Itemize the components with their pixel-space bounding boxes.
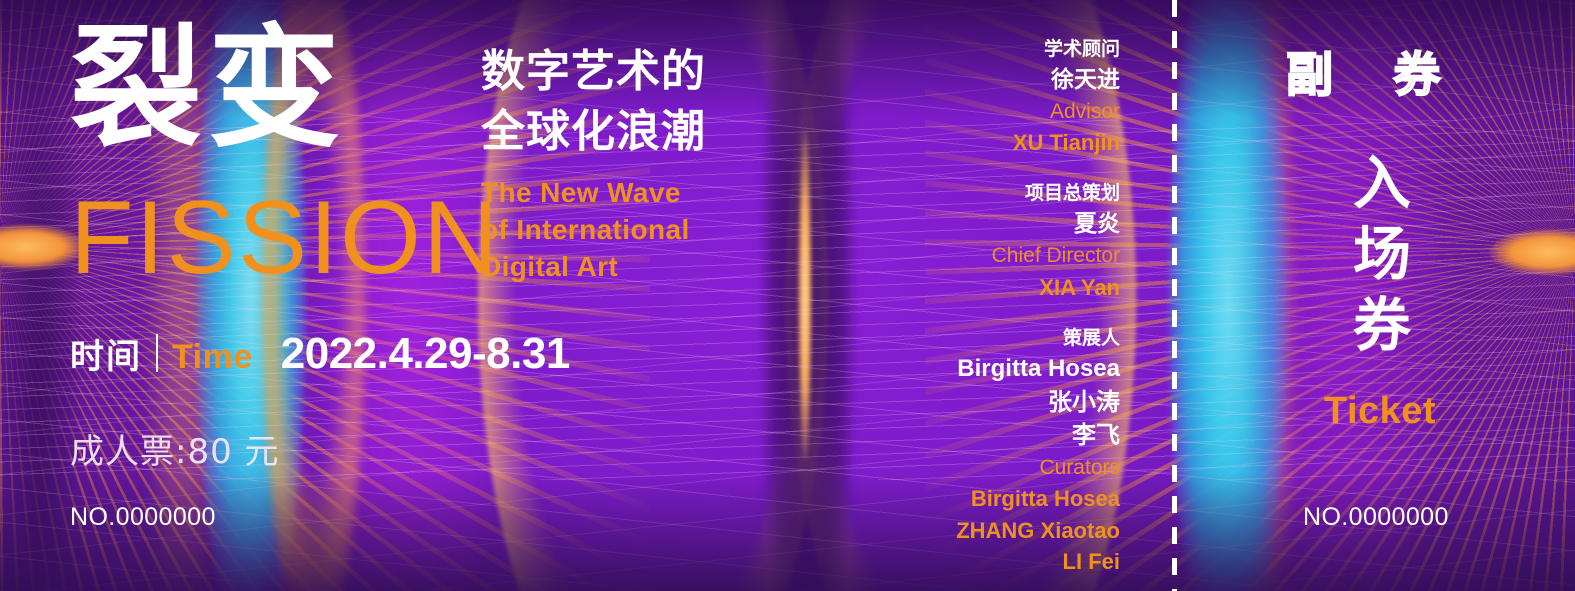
perforation-line <box>1172 0 1177 591</box>
serial-number-right: NO.0000000 <box>1303 503 1449 532</box>
serial-number-left: NO.0000000 <box>70 503 216 532</box>
subtitle-en-line-3: Digital Art <box>481 249 690 286</box>
stub-ticket-label: Ticket <box>1300 390 1460 433</box>
curators-label-en: Curators <box>956 452 1120 484</box>
advisor-label-en: Advisor <box>956 96 1120 128</box>
curator-name-en-1: Birgitta Hosea <box>956 483 1120 514</box>
time-value: 2022.4.29-8.31 <box>281 329 570 379</box>
subtitle-cn-line-2: 全球化浪潮 <box>481 102 706 162</box>
curator-name-en-2: ZHANG Xiaotao <box>956 515 1120 546</box>
chief-director-label-cn: 项目总策划 <box>956 180 1120 208</box>
stub-vertical-cn-char-2: 场 <box>1337 219 1427 290</box>
chief-director-label-en: Chief Director <box>956 240 1120 272</box>
ticket-root: 裂变 FISSION 数字艺术的 全球化浪潮 The New Wave of I… <box>0 0 1575 591</box>
credit-block-advisor: 学术顾问 徐天进 Advisor XU Tianjin <box>956 36 1120 158</box>
advisor-name-en: XU Tianjin <box>956 127 1120 158</box>
credit-block-chief-director: 项目总策划 夏炎 Chief Director XIA Yan <box>956 180 1120 302</box>
ticket-content: 裂变 FISSION 数字艺术的 全球化浪潮 The New Wave of I… <box>0 0 1575 591</box>
curator-name-cn-3: 李飞 <box>956 419 1120 452</box>
subtitle-en-line-2: of International <box>481 212 690 249</box>
subtitle-cn-line-1: 数字艺术的 <box>481 42 706 102</box>
time-divider <box>156 334 158 372</box>
stub-vertical-cn: 入 场 券 <box>1337 148 1427 360</box>
time-label-cn: 时间 <box>70 329 142 378</box>
advisor-name-cn: 徐天进 <box>956 64 1120 96</box>
subtitle-cn: 数字艺术的 全球化浪潮 <box>481 42 706 162</box>
curators-label-cn: 策展人 <box>956 325 1120 353</box>
stub-vertical-cn-char-3: 券 <box>1337 290 1427 361</box>
subtitle-en: The New Wave of International Digital Ar… <box>481 175 690 286</box>
subtitle-en-line-1: The New Wave <box>481 175 690 212</box>
stub-header: 副 券 <box>1286 36 1462 105</box>
curator-name-cn-1: Birgitta Hosea <box>956 352 1120 385</box>
advisor-label-cn: 学术顾问 <box>956 36 1120 64</box>
curator-name-cn-2: 张小涛 <box>956 386 1120 419</box>
event-date-row: 时间 Time 2022.4.29-8.31 <box>70 329 570 379</box>
chief-director-name-en: XIA Yan <box>956 272 1120 303</box>
chief-director-name-cn: 夏炎 <box>956 208 1120 240</box>
price-text: 成人票:80 元 <box>70 424 280 473</box>
credit-block-curators: 策展人 Birgitta Hosea 张小涛 李飞 Curators Birgi… <box>956 325 1120 577</box>
main-title-cn: 裂变 <box>70 18 346 161</box>
credits-panel: 学术顾问 徐天进 Advisor XU Tianjin 项目总策划 夏炎 Chi… <box>956 36 1120 591</box>
curator-name-en-3: LI Fei <box>956 546 1120 577</box>
time-label-en: Time <box>172 338 253 377</box>
main-title-en: FISSION <box>70 186 500 290</box>
stub-vertical-cn-char-1: 入 <box>1337 148 1427 219</box>
